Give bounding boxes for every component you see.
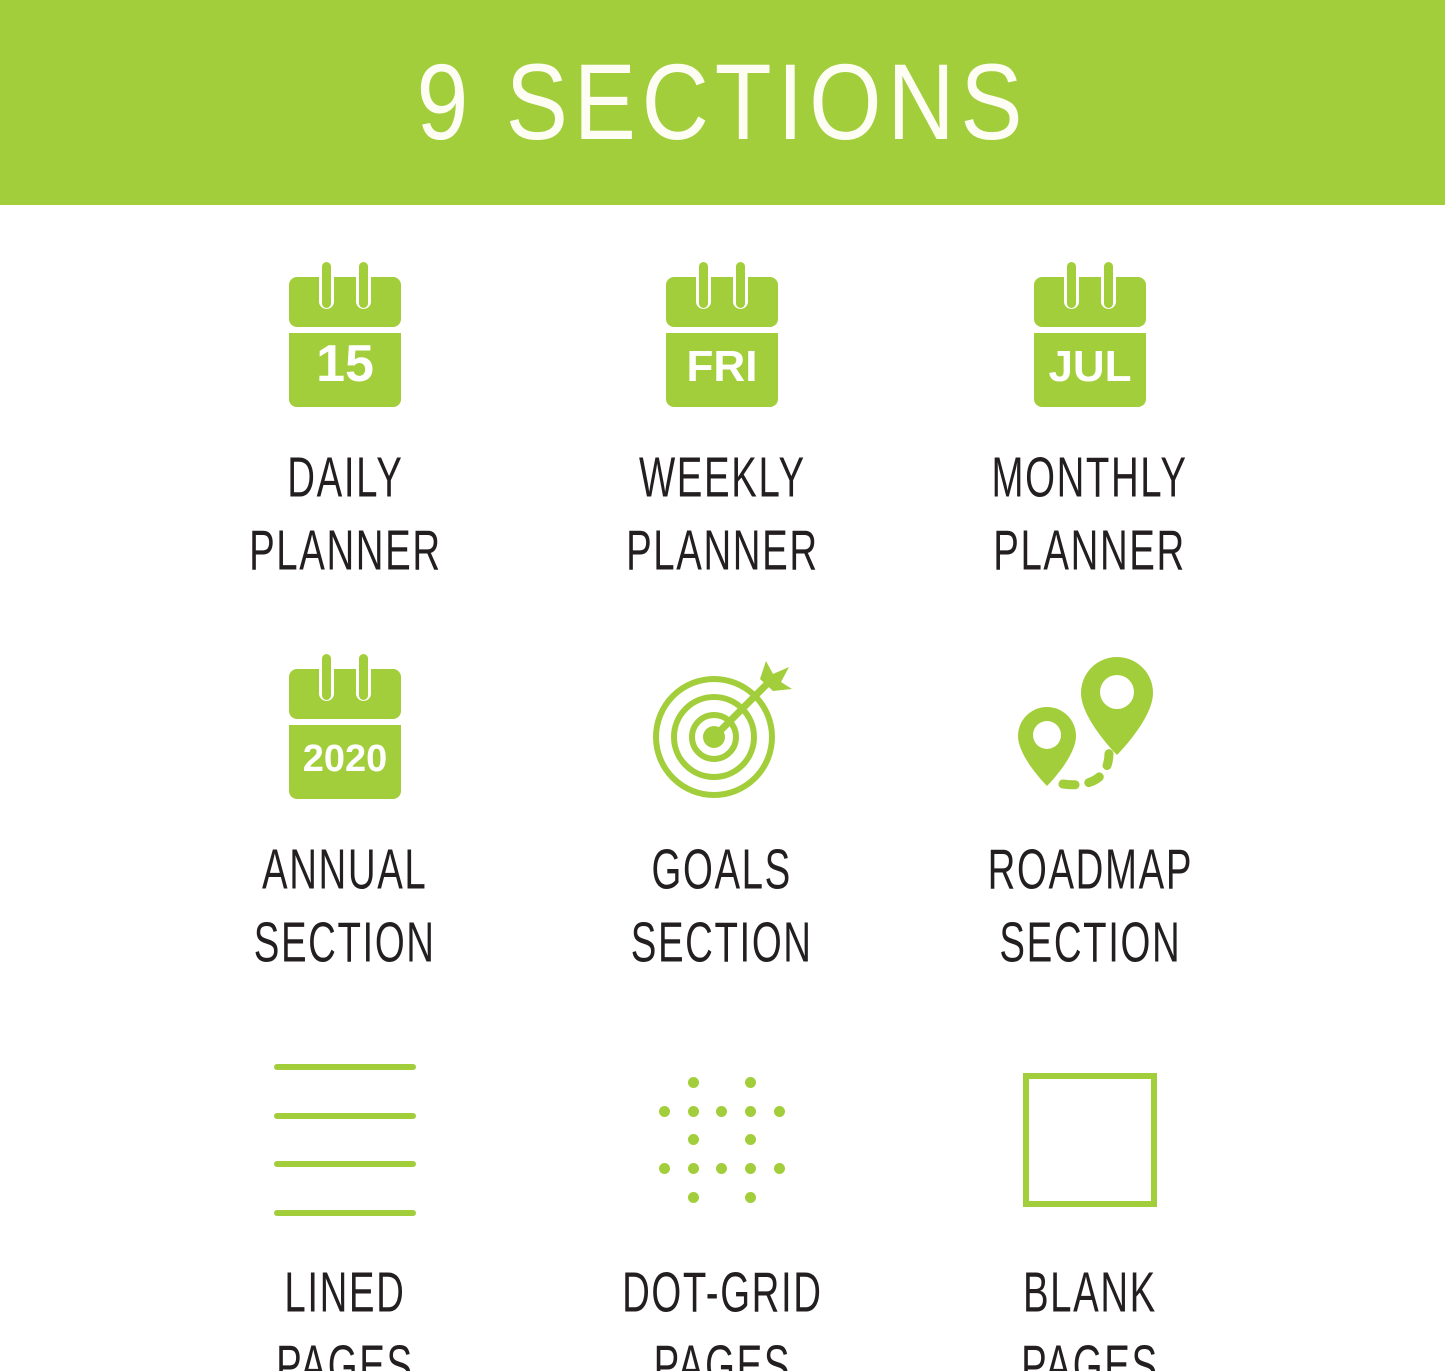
section-label-line2: SECTION [987,908,1192,982]
section-label-line2: PLANNER [992,516,1188,590]
lined-pages-lines [274,1064,416,1216]
grid-dot [716,1163,727,1174]
section-card-roadmap-section[interactable]: ROADMAP SECTION [900,637,1280,959]
section-label-line2: PAGES [1021,1331,1158,1371]
section-label-line1: DAILY [287,447,403,510]
section-card-annual-section[interactable]: 2020 ANNUAL SECTION [155,637,535,959]
section-label: MONTHLY PLANNER [992,442,1188,589]
section-card-weekly-planner[interactable]: FRI WEEKLY PLANNER [532,245,912,567]
grid-dot [745,1077,756,1088]
section-label-line2: PLANNER [626,516,819,590]
page-line [274,1161,416,1167]
calendar-day-value: 15 [316,335,374,393]
section-card-monthly-planner[interactable]: JUL MONTHLY PLANNER [900,245,1280,567]
grid-dot [688,1106,699,1117]
section-label: WEEKLY PLANNER [626,442,819,589]
section-label: DAILY PLANNER [249,442,442,589]
grid-dot [688,1163,699,1174]
page-line [274,1064,416,1070]
grid-dot [716,1106,727,1117]
grid-dot-empty [716,1077,727,1088]
grid-dot-empty [774,1192,785,1203]
section-card-blank-pages[interactable]: BLANK PAGES [900,1045,1280,1371]
grid-dot-empty [659,1134,670,1145]
page-title: 9 SECTIONS [417,49,1029,157]
grid-dot-empty [716,1192,727,1203]
section-label: ROADMAP SECTION [987,834,1192,981]
section-label-line1: ROADMAP [987,839,1192,902]
calendar-month-icon: JUL [1010,245,1170,420]
grid-dot-empty [774,1134,785,1145]
grid-dot [688,1192,699,1203]
grid-dot [659,1163,670,1174]
grid-dot [745,1106,756,1117]
section-label-line1: BLANK [1023,1262,1157,1325]
grid-dot-empty [659,1077,670,1088]
section-card-lined-pages[interactable]: LINED PAGES [155,1045,535,1371]
grid-dot [745,1192,756,1203]
header-banner: 9 SECTIONS [0,0,1445,205]
page-line [274,1210,416,1216]
grid-dot [774,1163,785,1174]
calendar-week-icon: FRI [642,245,802,420]
section-label-line1: WEEKLY [639,447,806,510]
calendar-year-icon: 2020 [265,637,425,812]
section-label: GOALS SECTION [631,834,813,981]
grid-dot [659,1106,670,1117]
grid-dot [688,1134,699,1145]
grid-dot [745,1134,756,1145]
blank-page-icon [1023,1045,1157,1235]
section-label-line2: PAGES [276,1331,413,1371]
calendar-day-icon: 15 [265,245,425,420]
section-label-line2: PLANNER [249,516,442,590]
section-label-line1: DOT-GRID [622,1262,823,1325]
section-label-line2: SECTION [254,908,436,982]
section-label: ANNUAL SECTION [254,834,436,981]
grid-dot-empty [659,1192,670,1203]
map-pins-route-icon [1005,637,1175,812]
dot-grid-matrix [650,1068,794,1212]
infographic-page: 9 SECTIONS 15 DAILY PLANNE [0,0,1445,1371]
target-arrow-icon [642,637,802,812]
section-card-dot-grid-pages[interactable]: DOT-GRID PAGES [532,1045,912,1371]
blank-page-square [1023,1073,1157,1207]
section-card-daily-planner[interactable]: 15 DAILY PLANNER [155,245,535,567]
sections-grid: 15 DAILY PLANNER FRI [0,205,1445,1371]
section-label-line2: PAGES [622,1331,823,1371]
lined-pages-icon [274,1045,416,1235]
grid-dot-empty [774,1077,785,1088]
section-label-line1: MONTHLY [992,447,1188,510]
calendar-month-value: JUL [1048,342,1131,391]
calendar-week-value: FRI [687,342,758,391]
calendar-year-value: 2020 [303,738,388,780]
section-label-line2: SECTION [631,908,813,982]
grid-dot [774,1106,785,1117]
grid-dot-empty [716,1134,727,1145]
section-label-line1: ANNUAL [262,839,427,902]
section-label-line1: GOALS [652,839,792,902]
section-label: LINED PAGES [276,1257,413,1371]
section-label-line1: LINED [284,1262,405,1325]
grid-dot [745,1163,756,1174]
section-card-goals-section[interactable]: GOALS SECTION [532,637,912,959]
section-label: BLANK PAGES [1021,1257,1158,1371]
dot-grid-icon [650,1045,794,1235]
section-label: DOT-GRID PAGES [622,1257,823,1371]
grid-dot [688,1077,699,1088]
page-line [274,1113,416,1119]
